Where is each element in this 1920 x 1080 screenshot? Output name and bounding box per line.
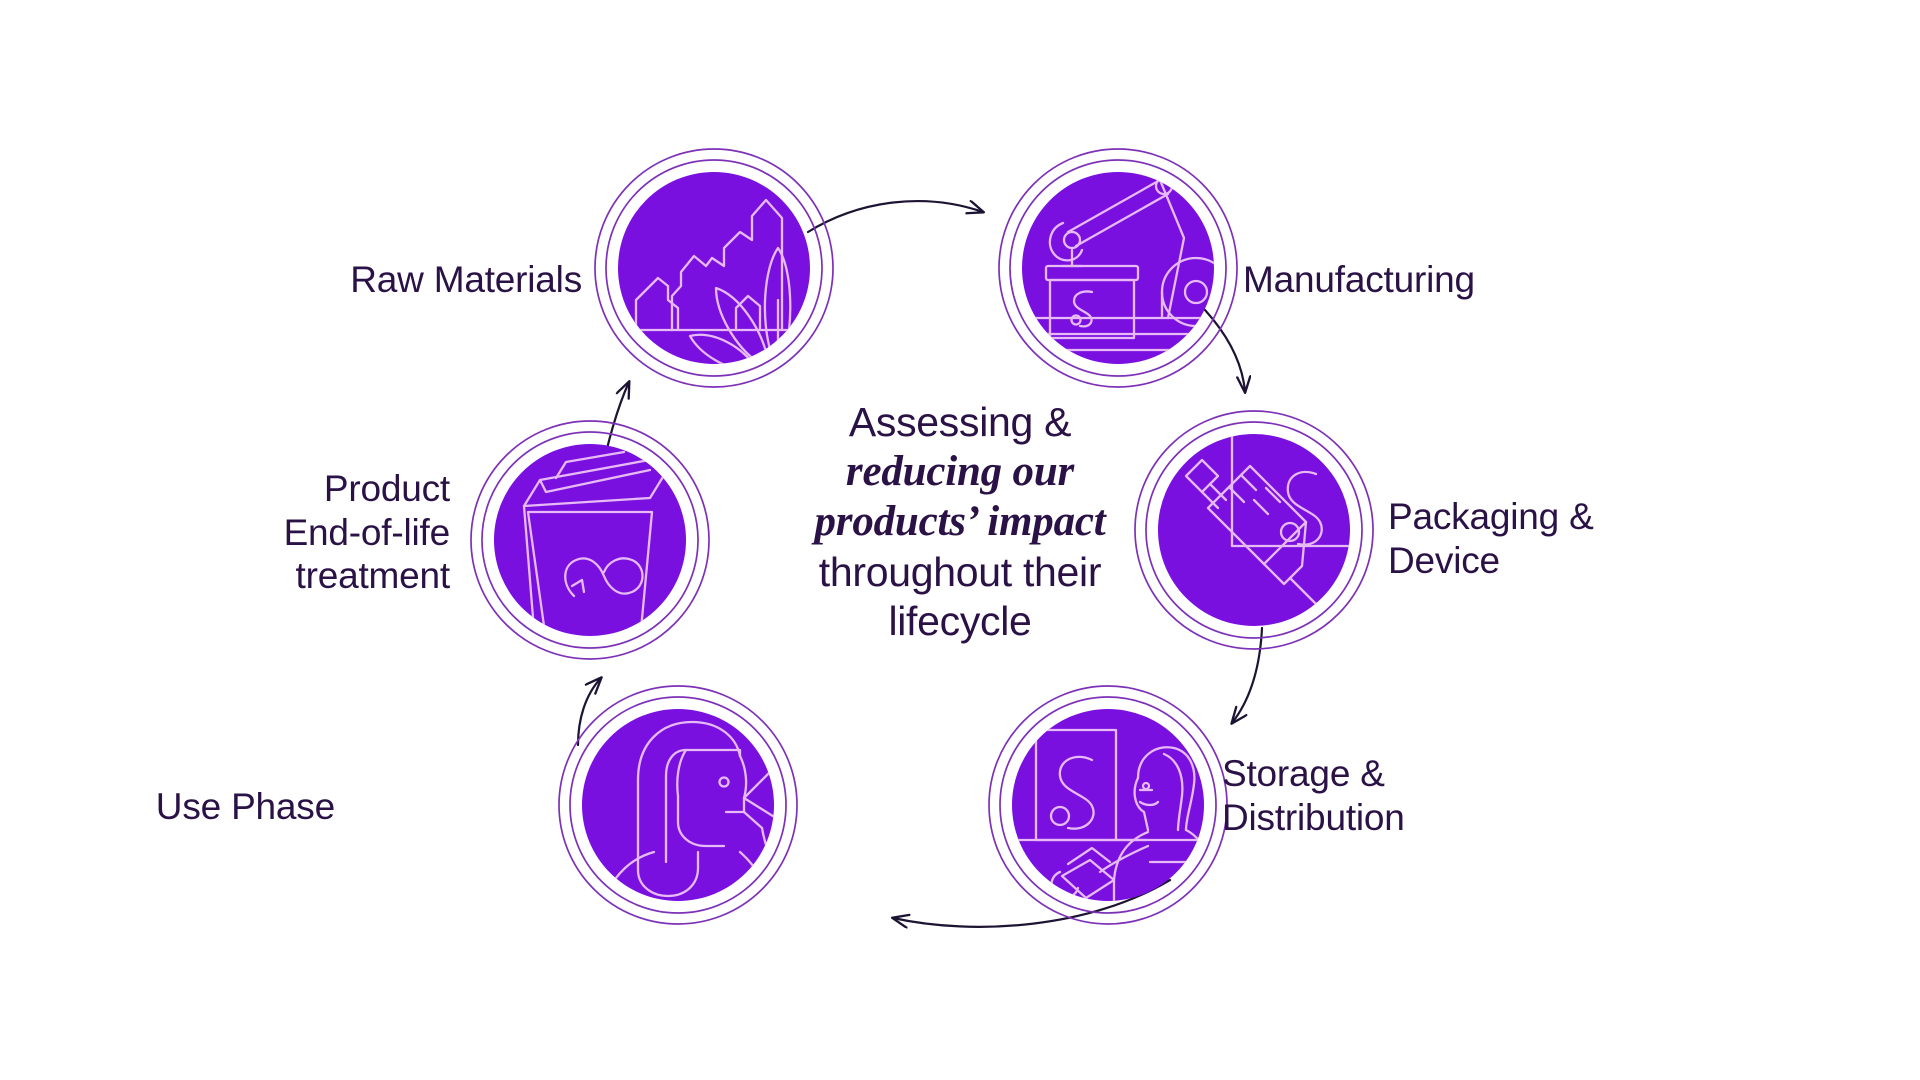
label-packaging-device: Packaging & Device [1388,495,1594,582]
storage-distribution-disc [1012,709,1204,901]
product-end-of-life-disc [494,444,686,636]
label-product-end-of-life: Product End-of-life treatment [284,467,450,598]
center-line-4: throughout their [700,548,1220,597]
label-use-phase: Use Phase [156,785,335,829]
arrow-raw-materials-to-manufacturing [808,201,983,232]
label-storage-distribution: Storage & Distribution [1222,752,1405,839]
label-manufacturing: Manufacturing [1243,258,1475,302]
node-raw-materials[interactable] [595,149,856,387]
center-line-1: Assessing & [700,398,1220,447]
center-line-2: reducing our [700,447,1220,497]
arrow-packaging-device-to-storage-distribution [1232,628,1262,723]
label-raw-materials: Raw Materials [350,258,582,302]
center-line-5: lifecycle [700,597,1220,646]
node-use-phase[interactable] [559,686,820,924]
node-manufacturing[interactable] [999,149,1237,387]
lifecycle-diagram: Raw Materials Manufacturing Packaging & … [0,0,1920,1080]
center-statement: Assessing & reducing our products’ impac… [700,398,1220,646]
node-product-end-of-life[interactable] [471,421,709,659]
center-line-3: products’ impact [700,497,1220,547]
node-storage-distribution[interactable] [989,686,1227,924]
